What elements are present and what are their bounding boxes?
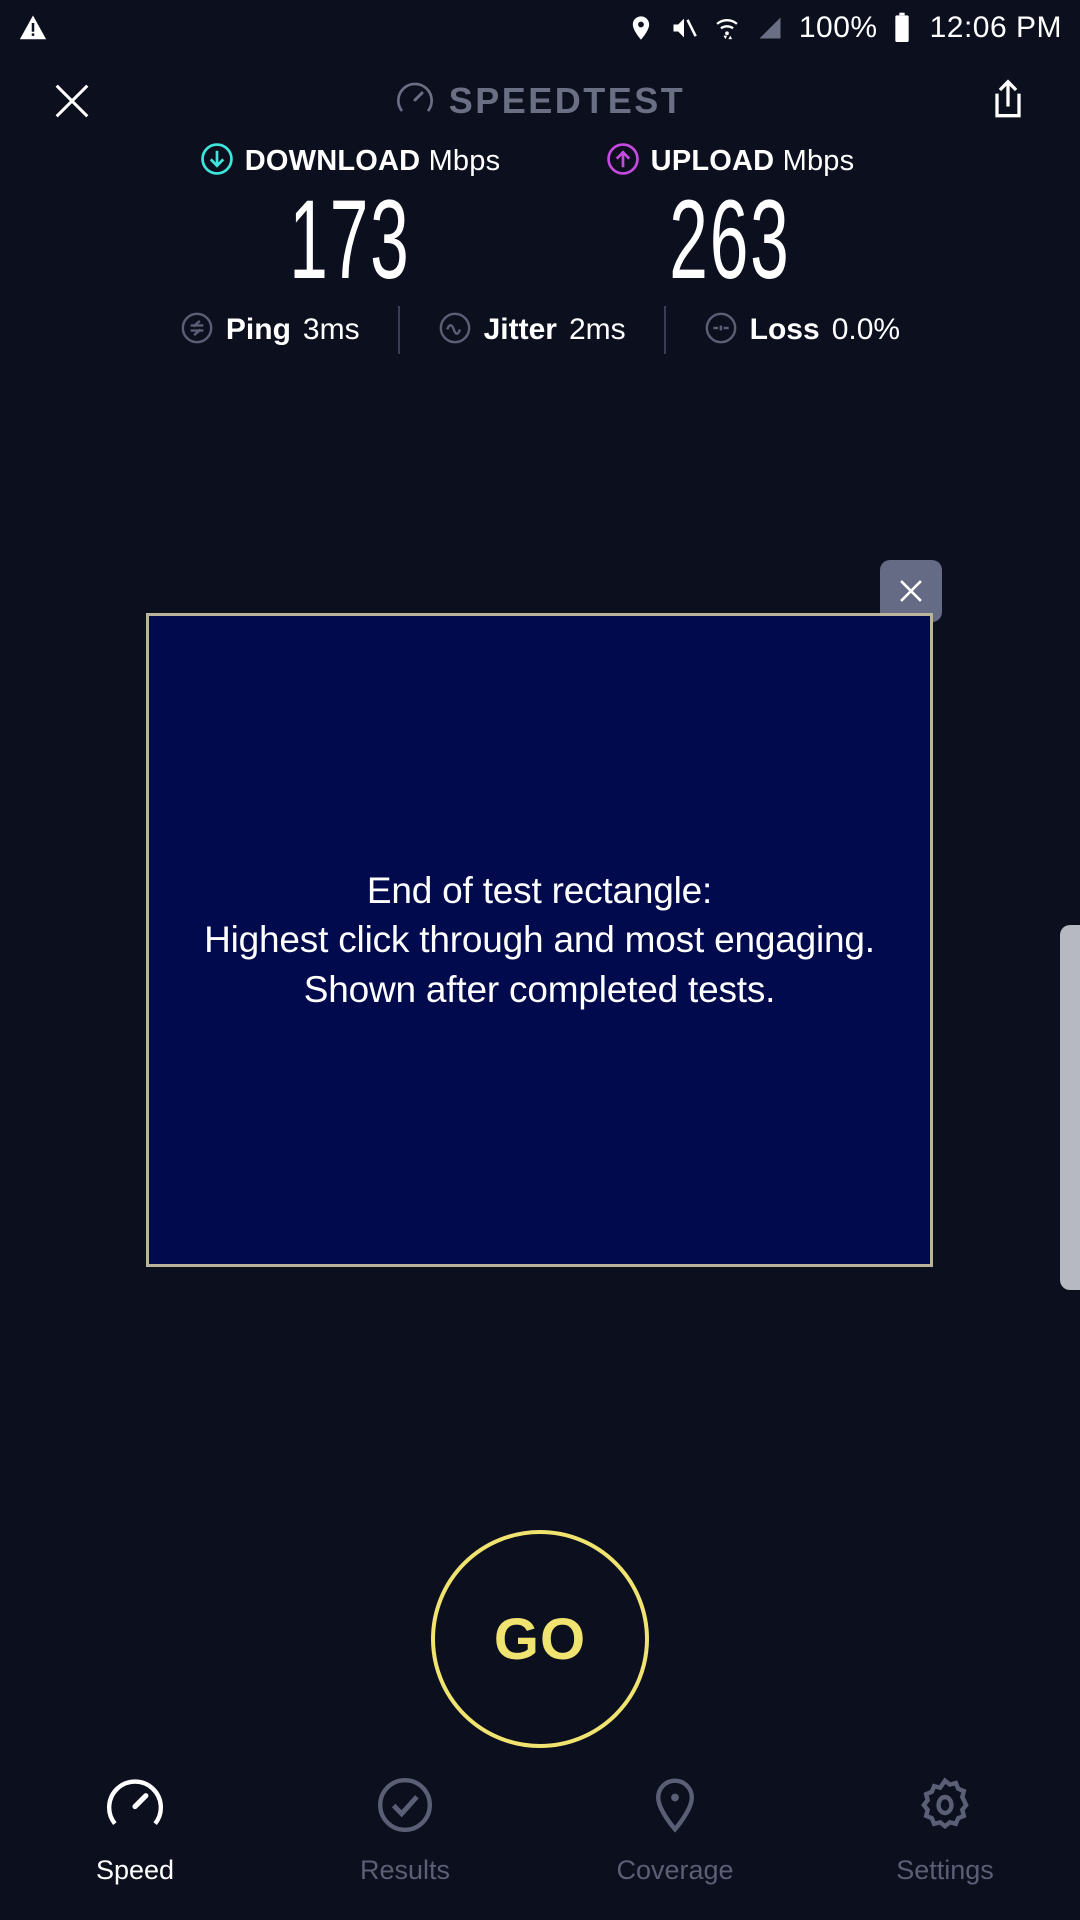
status-bar: 100% 12:06 PM xyxy=(0,0,1080,56)
status-bar-right: 100% 12:06 PM xyxy=(627,11,1062,45)
brand-title: SPEEDTEST xyxy=(0,56,1080,146)
location-pin-icon xyxy=(627,14,655,42)
speedometer-icon xyxy=(104,1774,166,1841)
upload-result: UPLOAD Mbps 263 xyxy=(540,140,920,296)
metric-ping-value: 3ms xyxy=(303,313,360,347)
speedtest-app-screen: 100% 12:06 PM SPEEDTEST xyxy=(0,0,1080,1920)
upload-header: UPLOAD Mbps xyxy=(606,140,855,182)
upload-label: UPLOAD Mbps xyxy=(651,145,855,178)
metric-loss-label: Loss xyxy=(750,313,820,347)
close-button[interactable] xyxy=(44,73,100,129)
nav-item-coverage[interactable]: Coverage xyxy=(540,1774,810,1886)
metric-divider xyxy=(398,306,400,354)
wifi-icon xyxy=(713,14,741,42)
download-value: 173 xyxy=(289,184,410,296)
brand-label: SPEEDTEST xyxy=(449,80,686,122)
download-result: DOWNLOAD Mbps 173 xyxy=(160,140,540,296)
battery-percent-label: 100% xyxy=(799,11,878,45)
loss-icon xyxy=(704,311,738,350)
nav-item-speed[interactable]: Speed xyxy=(0,1774,270,1886)
results-panel: DOWNLOAD Mbps 173 UPLOAD Mbps 263 xyxy=(0,140,1080,296)
upload-arrow-icon xyxy=(606,142,640,181)
download-upload-row: DOWNLOAD Mbps 173 UPLOAD Mbps 263 xyxy=(0,140,1080,296)
speedometer-icon xyxy=(395,79,435,124)
go-button-label: GO xyxy=(494,1606,586,1673)
metric-loss: Loss 0.0% xyxy=(704,311,900,350)
metric-jitter-value: 2ms xyxy=(569,313,626,347)
battery-full-icon xyxy=(892,12,912,44)
go-button[interactable]: GO xyxy=(431,1530,649,1748)
nav-item-coverage-label: Coverage xyxy=(616,1855,733,1886)
ping-icon xyxy=(180,311,214,350)
download-header: DOWNLOAD Mbps xyxy=(200,140,501,182)
bottom-navigation: Speed Results Coverage xyxy=(0,1760,1080,1920)
network-metrics-row: Ping 3ms Jitter 2ms Loss 0.0 xyxy=(0,300,1080,360)
jitter-icon xyxy=(438,311,472,350)
ad-text: End of test rectangle: Highest click thr… xyxy=(204,866,875,1014)
download-arrow-icon xyxy=(200,142,234,181)
upload-value: 263 xyxy=(669,184,790,296)
clock-label: 12:06 PM xyxy=(930,11,1062,45)
cell-signal-icon xyxy=(755,14,785,42)
metric-jitter-label: Jitter xyxy=(484,313,557,347)
nav-item-settings-label: Settings xyxy=(896,1855,994,1886)
download-label: DOWNLOAD Mbps xyxy=(245,145,501,178)
metric-ping: Ping 3ms xyxy=(180,311,360,350)
check-circle-icon xyxy=(374,1774,436,1841)
nav-item-results-label: Results xyxy=(360,1855,450,1886)
gear-icon xyxy=(914,1774,976,1841)
metric-ping-label: Ping xyxy=(226,313,291,347)
page-scrollbar[interactable] xyxy=(1060,925,1080,1290)
metric-divider xyxy=(664,306,666,354)
nav-item-settings[interactable]: Settings xyxy=(810,1774,1080,1886)
nav-item-results[interactable]: Results xyxy=(270,1774,540,1886)
share-button[interactable] xyxy=(980,73,1036,129)
metric-jitter: Jitter 2ms xyxy=(438,311,626,350)
status-bar-left xyxy=(18,13,48,43)
app-header: SPEEDTEST xyxy=(0,56,1080,146)
volume-muted-icon xyxy=(669,14,699,42)
metric-loss-value: 0.0% xyxy=(832,313,900,347)
location-pin-icon xyxy=(644,1774,706,1841)
warning-triangle-icon xyxy=(18,13,48,43)
nav-item-speed-label: Speed xyxy=(96,1855,174,1886)
ad-banner[interactable]: End of test rectangle: Highest click thr… xyxy=(146,613,933,1267)
